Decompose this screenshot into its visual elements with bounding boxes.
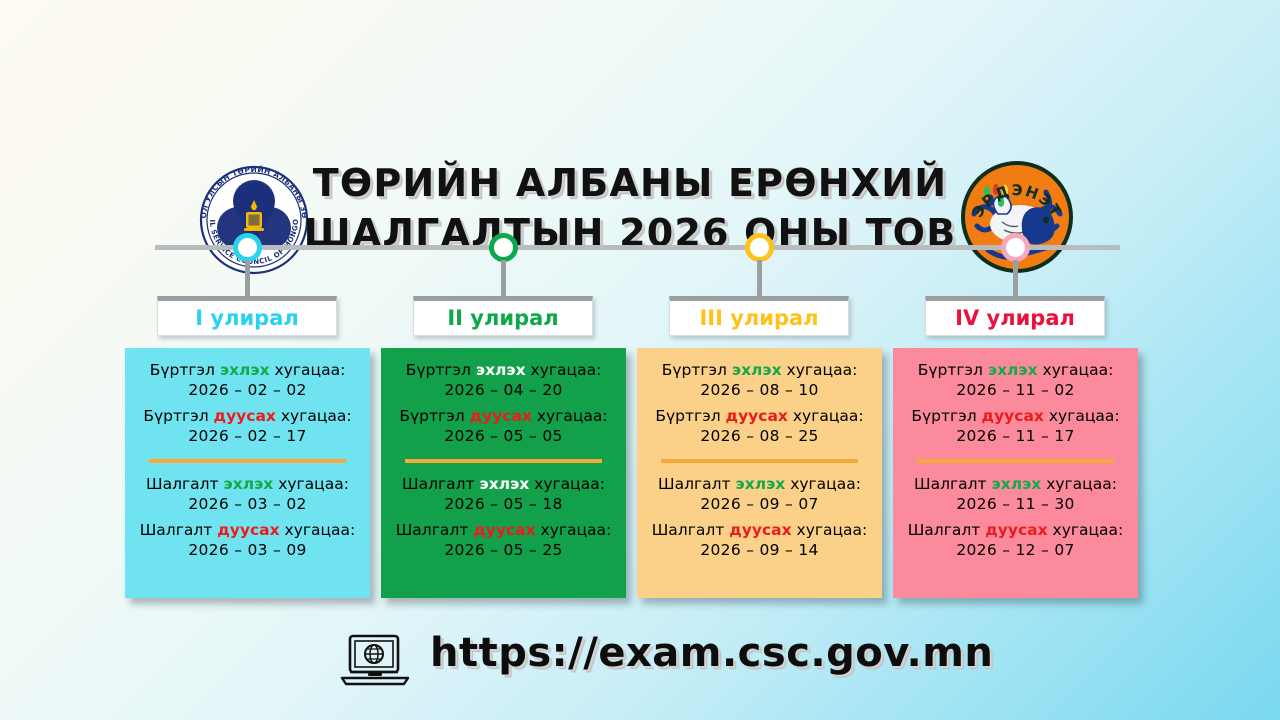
exam-end-4-keyword: дуусах [985, 521, 1047, 539]
exam-end-1-date: 2026 – 03 – 09 [133, 540, 362, 560]
quarter-label-text: III улирал [699, 306, 818, 330]
quarter-card-2: Бүртгэл эхлэх хугацаа:2026 – 04 – 20Бүрт… [381, 348, 626, 598]
exam-end-4: Шалгалт дуусах хугацаа:2026 – 12 – 07 [901, 520, 1130, 560]
timeline-dot-3[interactable] [745, 233, 774, 262]
exam-start-2-date: 2026 – 05 – 18 [389, 494, 618, 514]
exam-end-4-date: 2026 – 12 – 07 [901, 540, 1130, 560]
registration-end-2-date: 2026 – 05 – 05 [389, 426, 618, 446]
card-divider-3 [661, 459, 858, 463]
title-line-1: ТӨРИЙН АЛБАНЫ ЕРӨНХИЙ [300, 158, 960, 208]
registration-end-4-keyword: дуусах [982, 407, 1044, 425]
exam-start-3-suffix: хугацаа: [785, 475, 861, 493]
quarter-label-text: IV улирал [955, 306, 1075, 330]
registration-start-1: Бүртгэл эхлэх хугацаа:2026 – 02 – 02 [133, 360, 362, 400]
registration-start-2-suffix: хугацаа: [526, 361, 602, 379]
registration-end-1-prefix: Бүртгэл [143, 407, 213, 425]
timeline-dot-2[interactable] [489, 233, 518, 262]
registration-start-2-keyword: эхлэх [476, 361, 526, 379]
exam-start-4: Шалгалт эхлэх хугацаа:2026 – 11 – 30 [901, 474, 1130, 514]
exam-end-4-suffix: хугацаа: [1048, 521, 1124, 539]
exam-start-2-prefix: Шалгалт [402, 475, 480, 493]
laptop-globe-icon [338, 632, 412, 688]
exam-start-1: Шалгалт эхлэх хугацаа:2026 – 03 – 02 [133, 474, 362, 514]
exam-end-1-keyword: дуусах [217, 521, 279, 539]
exam-start-4-suffix: хугацаа: [1041, 475, 1117, 493]
registration-start-3-prefix: Бүртгэл [662, 361, 732, 379]
registration-start-1-prefix: Бүртгэл [150, 361, 220, 379]
registration-start-4: Бүртгэл эхлэх хугацаа:2026 – 11 – 02 [901, 360, 1130, 400]
registration-end-3-prefix: Бүртгэл [655, 407, 725, 425]
registration-end-2-suffix: хугацаа: [532, 407, 608, 425]
registration-end-4-prefix: Бүртгэл [911, 407, 981, 425]
quarter-card-4: Бүртгэл эхлэх хугацаа:2026 – 11 – 02Бүрт… [893, 348, 1138, 598]
infographic-canvas: МОНГОЛ УЛСЫН ТӨРИЙН АЛБАНЫ ЗӨВЛӨЛ CIVIL … [0, 0, 1280, 720]
quarter-label-text: I улирал [195, 306, 299, 330]
registration-end-1-suffix: хугацаа: [276, 407, 352, 425]
exam-end-1: Шалгалт дуусах хугацаа:2026 – 03 – 09 [133, 520, 362, 560]
registration-end-4: Бүртгэл дуусах хугацаа:2026 – 11 – 17 [901, 406, 1130, 446]
timeline-dot-4[interactable] [1001, 233, 1030, 262]
registration-end-4-suffix: хугацаа: [1044, 407, 1120, 425]
registration-end-3-date: 2026 – 08 – 25 [645, 426, 874, 446]
registration-start-3: Бүртгэл эхлэх хугацаа:2026 – 08 – 10 [645, 360, 874, 400]
exam-start-2: Шалгалт эхлэх хугацаа:2026 – 05 – 18 [389, 474, 618, 514]
registration-start-4-date: 2026 – 11 – 02 [901, 380, 1130, 400]
exam-end-3-prefix: Шалгалт [652, 521, 730, 539]
registration-start-2: Бүртгэл эхлэх хугацаа:2026 – 04 – 20 [389, 360, 618, 400]
quarter-card-1: Бүртгэл эхлэх хугацаа:2026 – 02 – 02Бүрт… [125, 348, 370, 598]
registration-start-1-date: 2026 – 02 – 02 [133, 380, 362, 400]
registration-end-4-date: 2026 – 11 – 17 [901, 426, 1130, 446]
exam-start-3: Шалгалт эхлэх хугацаа:2026 – 09 – 07 [645, 474, 874, 514]
exam-start-4-date: 2026 – 11 – 30 [901, 494, 1130, 514]
registration-end-1-keyword: дуусах [214, 407, 276, 425]
exam-start-1-prefix: Шалгалт [146, 475, 224, 493]
exam-start-2-keyword: эхлэх [480, 475, 530, 493]
header: МОНГОЛ УЛСЫН ТӨРИЙН АЛБАНЫ ЗӨВЛӨЛ CIVIL … [0, 70, 1280, 215]
exam-start-4-keyword: эхлэх [992, 475, 1042, 493]
title-line-2: ШАЛГАЛТЫН 2026 ОНЫ ТОВ [300, 208, 960, 258]
registration-end-3-keyword: дуусах [726, 407, 788, 425]
registration-start-1-keyword: эхлэх [220, 361, 270, 379]
exam-start-2-suffix: хугацаа: [529, 475, 605, 493]
exam-end-2-suffix: хугацаа: [536, 521, 612, 539]
registration-end-3: Бүртгэл дуусах хугацаа:2026 – 08 – 25 [645, 406, 874, 446]
card-divider-4 [917, 459, 1114, 463]
registration-end-2: Бүртгэл дуусах хугацаа:2026 – 05 – 05 [389, 406, 618, 446]
registration-start-3-keyword: эхлэх [732, 361, 782, 379]
registration-end-1-date: 2026 – 02 – 17 [133, 426, 362, 446]
exam-end-2: Шалгалт дуусах хугацаа:2026 – 05 – 25 [389, 520, 618, 560]
quarter-label-1[interactable]: I улирал [157, 296, 337, 336]
registration-start-2-date: 2026 – 04 – 20 [389, 380, 618, 400]
exam-start-4-prefix: Шалгалт [914, 475, 992, 493]
exam-start-3-prefix: Шалгалт [658, 475, 736, 493]
registration-start-4-suffix: хугацаа: [1038, 361, 1114, 379]
registration-end-2-prefix: Бүртгэл [399, 407, 469, 425]
registration-start-2-prefix: Бүртгэл [406, 361, 476, 379]
page-title: ТӨРИЙН АЛБАНЫ ЕРӨНХИЙ ШАЛГАЛТЫН 2026 ОНЫ… [300, 158, 960, 258]
registration-start-3-suffix: хугацаа: [782, 361, 858, 379]
registration-end-1: Бүртгэл дуусах хугацаа:2026 – 02 – 17 [133, 406, 362, 446]
timeline-axis [155, 245, 1120, 250]
exam-end-3-keyword: дуусах [729, 521, 791, 539]
website-url[interactable]: https://exam.csc.gov.mn [430, 630, 990, 676]
quarter-label-4[interactable]: IV улирал [925, 296, 1105, 336]
exam-start-1-keyword: эхлэх [224, 475, 274, 493]
exam-start-1-suffix: хугацаа: [273, 475, 349, 493]
registration-end-3-suffix: хугацаа: [788, 407, 864, 425]
exam-end-2-prefix: Шалгалт [396, 521, 474, 539]
exam-end-3-date: 2026 – 09 – 14 [645, 540, 874, 560]
registration-end-2-keyword: дуусах [470, 407, 532, 425]
registration-start-3-date: 2026 – 08 – 10 [645, 380, 874, 400]
exam-end-4-prefix: Шалгалт [908, 521, 986, 539]
exam-start-3-date: 2026 – 09 – 07 [645, 494, 874, 514]
exam-end-1-suffix: хугацаа: [280, 521, 356, 539]
card-divider-1 [149, 459, 346, 463]
card-divider-2 [405, 459, 602, 463]
quarter-label-2[interactable]: II улирал [413, 296, 593, 336]
registration-start-4-prefix: Бүртгэл [918, 361, 988, 379]
exam-start-1-date: 2026 – 03 – 02 [133, 494, 362, 514]
exam-end-3-suffix: хугацаа: [792, 521, 868, 539]
registration-start-4-keyword: эхлэх [988, 361, 1038, 379]
registration-start-1-suffix: хугацаа: [270, 361, 346, 379]
exam-end-3: Шалгалт дуусах хугацаа:2026 – 09 – 14 [645, 520, 874, 560]
quarter-label-text: II улирал [447, 306, 558, 330]
quarter-label-3[interactable]: III улирал [669, 296, 849, 336]
exam-end-2-keyword: дуусах [473, 521, 535, 539]
timeline-dot-1[interactable] [233, 233, 262, 262]
exam-end-2-date: 2026 – 05 – 25 [389, 540, 618, 560]
exam-start-3-keyword: эхлэх [736, 475, 786, 493]
exam-end-1-prefix: Шалгалт [140, 521, 218, 539]
quarter-card-3: Бүртгэл эхлэх хугацаа:2026 – 08 – 10Бүрт… [637, 348, 882, 598]
